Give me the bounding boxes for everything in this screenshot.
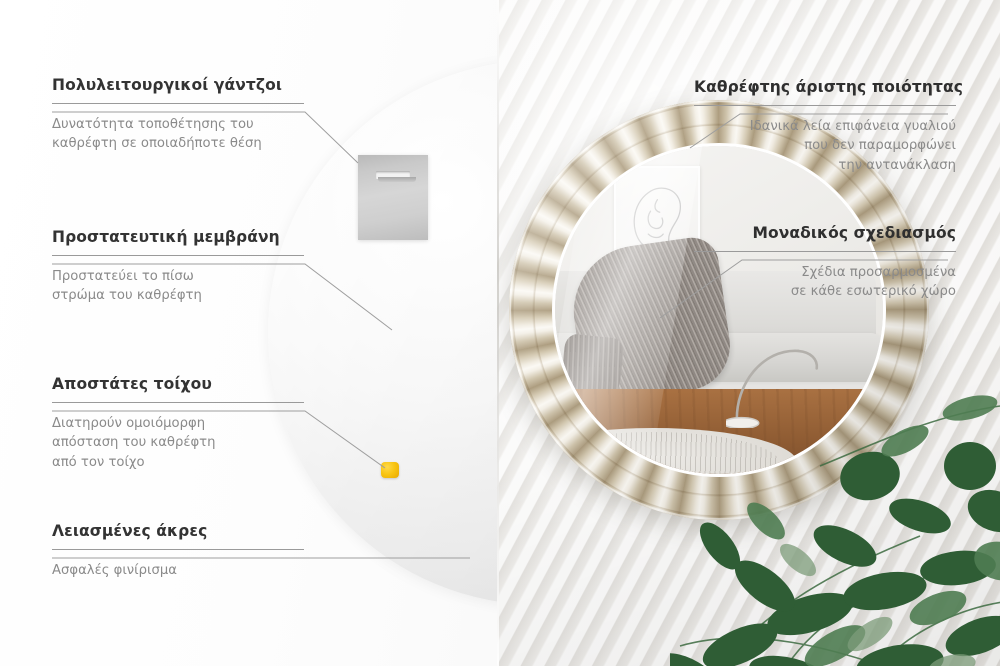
- callout-design-title: Μοναδικός σχεδιασμός: [694, 224, 956, 242]
- callout-spacers-title: Αποστάτες τοίχου: [52, 375, 304, 393]
- callout-spacers: Αποστάτες τοίχου Διατηρούν ομοιόμορφη απ…: [52, 375, 304, 472]
- callout-quality-title: Καθρέφτης άριστης ποιότητας: [694, 78, 956, 96]
- callout-design-desc: Σχέδια προσαρμοσμένα σε κάθε εσωτερικό χ…: [694, 263, 956, 302]
- callout-membrane-rule: [52, 255, 304, 256]
- infographic-stage: Πολυλειτουργικοί γάντζοι Δυνατότητα τοπο…: [0, 0, 1000, 666]
- callout-membrane-desc: Προστατεύει το πίσω στρώμα του καθρέφτη: [52, 267, 304, 306]
- callout-hooks-desc: Δυνατότητα τοποθέτησης του καθρέφτη σε ο…: [52, 115, 304, 154]
- callout-hooks-rule: [52, 103, 304, 104]
- callout-edges-rule: [52, 549, 304, 550]
- hook-keyhole-slot: [376, 171, 410, 179]
- callout-spacers-desc: Διατηρούν ομοιόμορφη απόσταση του καθρέφ…: [52, 414, 304, 472]
- callout-design-rule: [694, 251, 956, 252]
- callout-quality-desc: Ιδανικά λεία επιφάνεια γυαλιού που δεν π…: [694, 117, 956, 175]
- yellow-spacer: [381, 462, 399, 478]
- callout-quality-rule: [694, 105, 956, 106]
- callout-quality: Καθρέφτης άριστης ποιότητας Ιδανικά λεία…: [694, 78, 956, 175]
- callout-edges-title: Λειασμένες άκρες: [52, 522, 304, 540]
- callout-hooks: Πολυλειτουργικοί γάντζοι Δυνατότητα τοπο…: [52, 76, 304, 154]
- callout-design: Μοναδικός σχεδιασμός Σχέδια προσαρμοσμέν…: [694, 224, 956, 302]
- callout-hooks-title: Πολυλειτουργικοί γάντζοι: [52, 76, 304, 94]
- callout-edges-desc: Ασφαλές φινίρισμα: [52, 561, 304, 580]
- foliage-branches: [670, 346, 1000, 666]
- panel-divider: [497, 0, 499, 666]
- hook-plate: [358, 155, 428, 240]
- callout-membrane: Προστατευτική μεμβράνη Προστατεύει το πί…: [52, 228, 304, 306]
- callout-spacers-rule: [52, 402, 304, 403]
- callout-edges: Λειασμένες άκρες Ασφαλές φινίρισμα: [52, 522, 304, 580]
- callout-membrane-title: Προστατευτική μεμβράνη: [52, 228, 304, 246]
